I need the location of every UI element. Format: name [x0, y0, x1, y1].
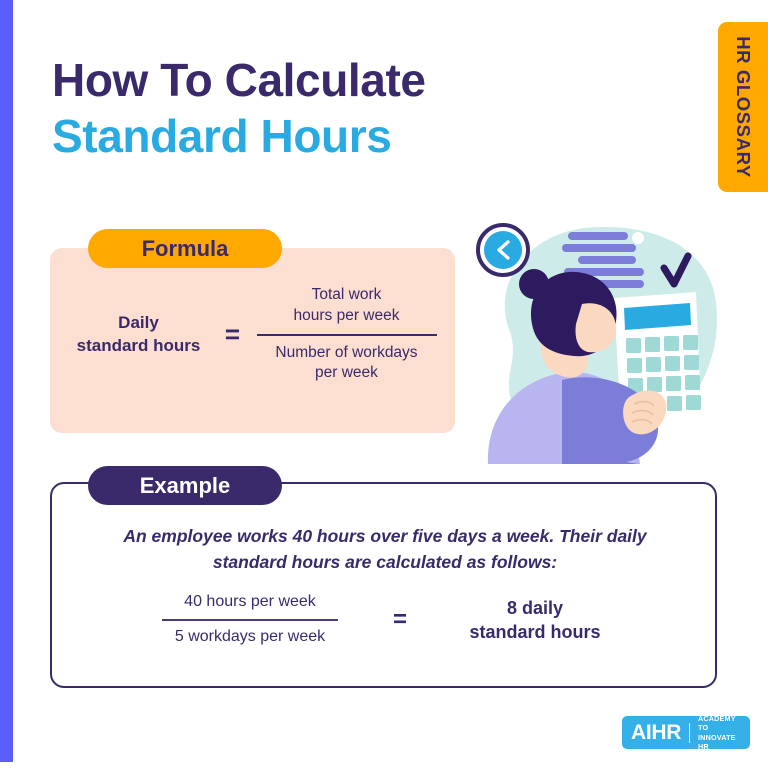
example-description: An employee works 40 hours over five day…: [90, 524, 680, 576]
aihr-logo-tagline-line-2: INNOVATE HR: [698, 733, 736, 751]
person-hair-bun: [519, 269, 549, 299]
formula-denominator-line-1: Number of workdays: [275, 343, 417, 364]
formula-denominator: Number of workdays per week: [275, 343, 417, 385]
formula-numerator-line-2: hours per week: [294, 306, 400, 327]
example-result-line-1: 8 daily: [435, 596, 635, 620]
infographic-page: HR GLOSSARY How To Calculate Standard Ho…: [0, 0, 768, 768]
formula-pill: Formula: [88, 229, 282, 268]
page-title-line-2: Standard Hours: [52, 108, 426, 164]
example-numerator: 40 hours per week: [184, 592, 316, 613]
formula-expression: Daily standard hours = Total work hours …: [50, 285, 455, 384]
formula-pill-label: Formula: [142, 236, 229, 262]
formula-fraction-bar: [257, 334, 437, 336]
example-pill: Example: [88, 466, 282, 505]
example-fraction-bar: [162, 619, 338, 621]
hr-glossary-badge-label: HR GLOSSARY: [732, 36, 754, 178]
person-marking-calendar-illustration: [470, 212, 728, 464]
formula-left-hand-side: Daily standard hours: [59, 312, 219, 357]
page-title: How To Calculate Standard Hours: [52, 52, 426, 164]
left-edge-accent-strip: [0, 0, 13, 762]
aihr-logo-wordmark: AIHR: [631, 721, 681, 745]
example-equals-sign: =: [365, 606, 435, 634]
formula-fraction: Total work hours per week Number of work…: [247, 285, 447, 384]
hr-glossary-badge: HR GLOSSARY: [718, 22, 768, 192]
motion-dot-icon: [632, 232, 644, 244]
example-result: 8 daily standard hours: [435, 596, 635, 644]
formula-lhs-line-2: standard hours: [59, 335, 219, 357]
aihr-logo: AIHR ACADEMY TO INNOVATE HR: [622, 716, 750, 749]
example-pill-label: Example: [140, 473, 231, 499]
clock-icon: [476, 223, 530, 277]
formula-denominator-line-2: per week: [275, 363, 417, 384]
example-fraction: 40 hours per week 5 workdays per week: [135, 592, 365, 648]
formula-numerator-line-1: Total work: [294, 285, 400, 306]
aihr-logo-divider: [689, 723, 690, 743]
formula-lhs-line-1: Daily: [59, 312, 219, 334]
formula-equals-sign: =: [219, 319, 247, 350]
example-denominator: 5 workdays per week: [175, 627, 325, 648]
example-calculation: 40 hours per week 5 workdays per week = …: [90, 592, 680, 648]
aihr-logo-tagline-line-1: ACADEMY TO: [698, 714, 736, 732]
formula-numerator: Total work hours per week: [294, 285, 400, 327]
page-title-line-1: How To Calculate: [52, 52, 426, 108]
example-result-line-2: standard hours: [435, 620, 635, 644]
aihr-logo-tagline: ACADEMY TO INNOVATE HR: [698, 714, 741, 751]
example-card: [50, 482, 717, 688]
